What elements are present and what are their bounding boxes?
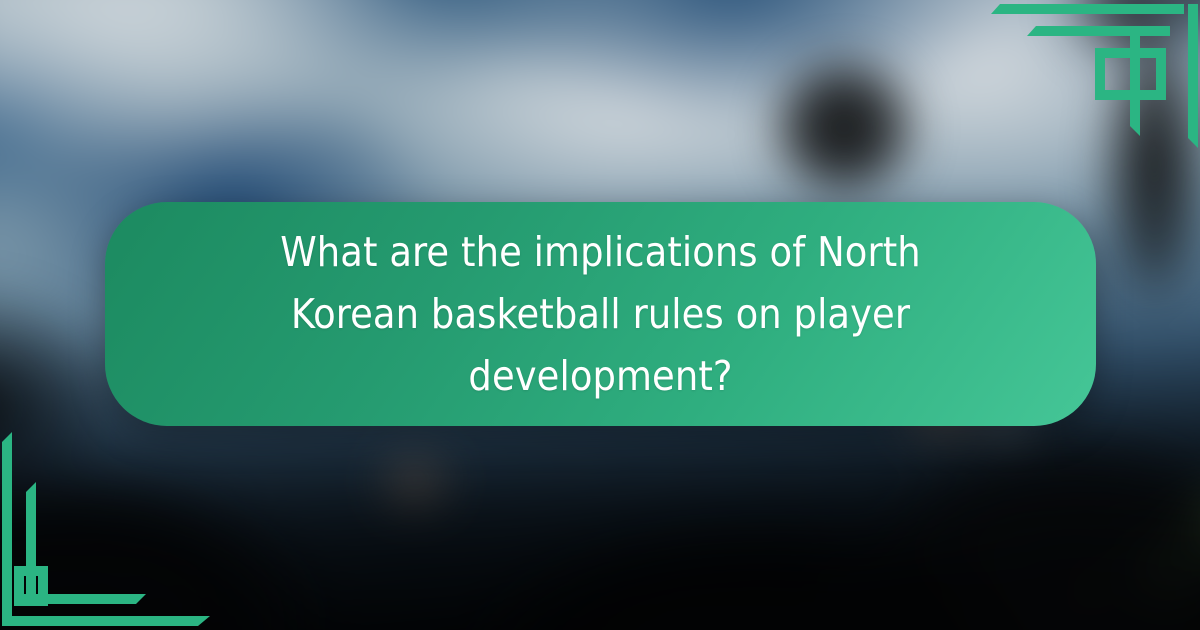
- small-square-motif-right: [14, 566, 48, 606]
- inner-vertical-rule: [1130, 36, 1140, 136]
- small-square-motif-upper: [1095, 48, 1166, 80]
- top-right-bracket-svg: [980, 0, 1200, 200]
- short-horizontal-rule-upper: [16, 594, 146, 604]
- bottom-left-corner-bracket: [0, 420, 230, 630]
- short-horizontal-rule-lower: [1027, 26, 1170, 36]
- small-square-motif-left: [14, 566, 48, 606]
- outer-vertical-rule: [1188, 4, 1198, 148]
- question-banner: What are the implications of North Korea…: [105, 202, 1096, 426]
- question-text: What are the implications of North Korea…: [221, 221, 981, 408]
- outer-vertical-rule: [2, 432, 12, 626]
- question-card-canvas: What are the implications of North Korea…: [0, 0, 1200, 630]
- top-right-corner-bracket: [980, 0, 1200, 200]
- long-horizontal-rule-lower: [4, 616, 210, 626]
- inner-vertical-rule: [26, 482, 36, 594]
- long-horizontal-rule-upper: [991, 4, 1184, 14]
- bottom-left-bracket-svg: [0, 420, 230, 630]
- small-square-motif-lower: [1095, 80, 1166, 100]
